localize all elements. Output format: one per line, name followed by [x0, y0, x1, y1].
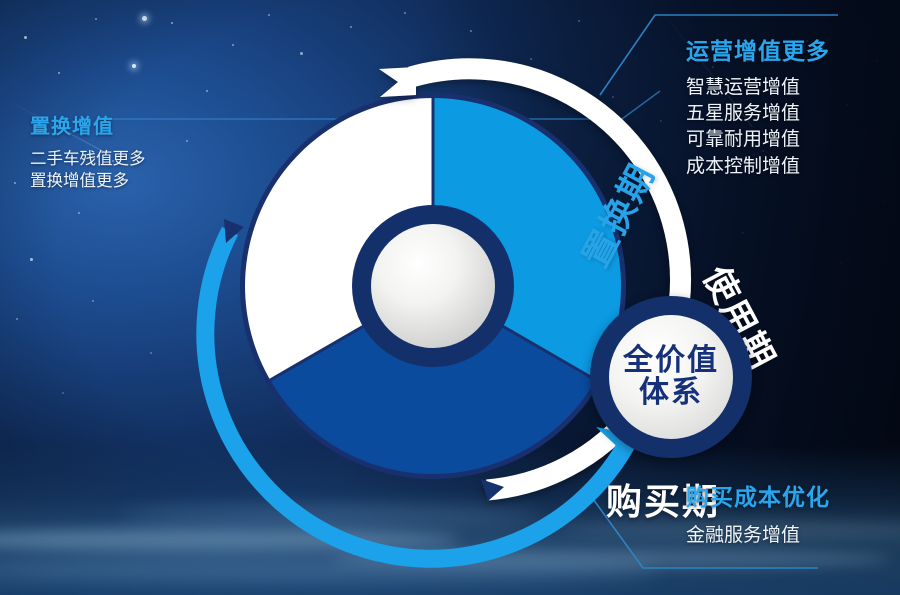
callout-operations-items: 智慧运营增值 五星服务增值 可靠耐用增值 成本控制增值 [686, 75, 830, 180]
hub-line-1: 全价值 [623, 345, 719, 377]
list-item: 可靠耐用增值 [686, 127, 830, 153]
list-item: 智慧运营增值 [686, 75, 830, 101]
hub-text: 全价值 体系 [609, 315, 733, 439]
callout-purchase-cost-items: 金融服务增值 [686, 523, 830, 548]
hub: 全价值 体系 [590, 296, 752, 458]
callout-trade-in: 置换增值 二手车残值更多 置换增值更多 [30, 110, 146, 193]
hub-line-2: 体系 [639, 377, 703, 409]
hub-face [371, 224, 495, 348]
callout-operations-title: 运营增值更多 [686, 32, 830, 66]
list-item: 五星服务增值 [686, 101, 830, 127]
list-item: 金融服务增值 [686, 523, 830, 548]
diagram-canvas: 使用期 置换期 购买期 全价值 体系 置换增值 二手车残值更多 置换增值更多 运… [0, 0, 900, 595]
callout-purchase-cost: 购买成本优化 金融服务增值 [686, 478, 830, 548]
callout-purchase-cost-title: 购买成本优化 [686, 478, 830, 512]
callout-trade-in-title: 置换增值 [30, 110, 146, 139]
list-item: 置换增值更多 [30, 170, 146, 192]
list-item: 二手车残值更多 [30, 148, 146, 170]
list-item: 成本控制增值 [686, 154, 830, 180]
callout-trade-in-items: 二手车残值更多 置换增值更多 [30, 148, 146, 193]
callout-operations: 运营增值更多 智慧运营增值 五星服务增值 可靠耐用增值 成本控制增值 [686, 32, 830, 180]
value-cycle-wheel: 使用期 置换期 购买期 全价值 体系 [238, 91, 628, 481]
